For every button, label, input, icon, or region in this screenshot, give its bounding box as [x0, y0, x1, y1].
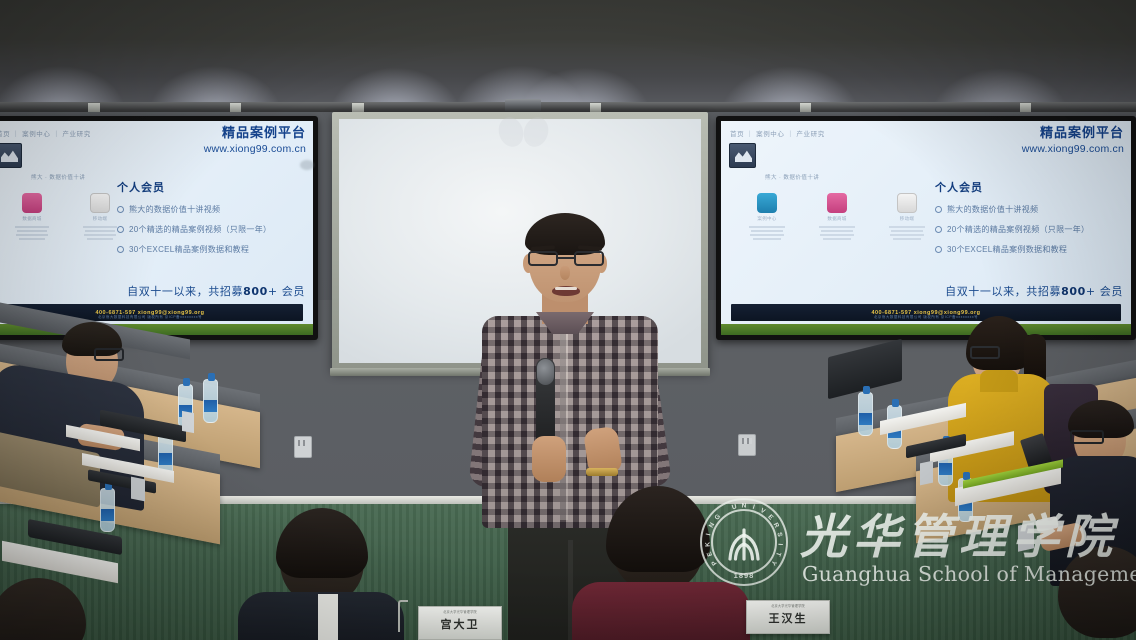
nameplate-right: 北京大学光华管理学院 王汉生	[746, 600, 830, 634]
audience-front-right-hair	[606, 486, 710, 572]
panelist-right-hair	[966, 316, 1032, 370]
slide-cta-number: 800	[243, 285, 268, 298]
slide-bullet-text: 30个EXCEL精品案例数据和教程	[947, 244, 1067, 255]
speaker-shirt-placket	[560, 330, 568, 520]
slide-bullet-text: 熊大的数据价值十讲视频	[129, 204, 220, 215]
audience-front-far-left-head	[0, 578, 86, 640]
ceiling-projector	[505, 99, 541, 113]
lecture-hall-scene: 首页 ｜ 案例中心 ｜ 产业研究 熊大 · 数据价值十讲 精品案例平台 www.…	[0, 0, 1136, 640]
bullet-circle-icon	[117, 206, 124, 213]
nameplate-name: 王汉生	[747, 610, 829, 626]
mic-base	[131, 477, 145, 502]
nameplate-org: 北京大学光华管理学院	[419, 609, 501, 614]
nameplate-name: 宫大卫	[419, 616, 501, 632]
whiteboard-smudge	[300, 160, 314, 170]
shirt-collar	[318, 594, 338, 640]
slide-app-item: 移动端	[83, 193, 117, 242]
wall-outlet-icon	[738, 434, 756, 456]
slide-cta-prefix: 自双十一以来，共招募	[127, 285, 243, 298]
display-right-screen: 首页 ｜ 案例中心 ｜ 产业研究 熊大 · 数据价值十讲 精品案例平台 www.…	[721, 121, 1131, 335]
slide-app-lines	[819, 226, 855, 240]
slide-section-title: 个人会员	[935, 179, 1121, 195]
slide-members-block: 个人会员 熊大的数据价值十讲视频 20个精选的精品案例视频（只限一年） 30个E…	[935, 179, 1121, 255]
panelist-right-collar	[980, 370, 1018, 392]
nameplate-org: 北京大学光华管理学院	[747, 603, 829, 608]
display-right: 首页 ｜ 案例中心 ｜ 产业研究 熊大 · 数据价值十讲 精品案例平台 www.…	[716, 116, 1136, 340]
slide-breadcrumb: 首页 ｜ 案例中心 ｜ 产业研究	[0, 128, 91, 138]
bullet-circle-icon	[935, 246, 942, 253]
mic-base	[1018, 522, 1034, 551]
slide-logo-icon	[729, 143, 756, 168]
bullet-circle-icon	[117, 246, 124, 253]
bullet-circle-icon	[935, 206, 942, 213]
rail-light-tick	[1020, 103, 1031, 112]
slide-app-caption: 数据商城	[819, 216, 855, 222]
wall-outlet-icon	[294, 436, 312, 458]
audience-front-right-maroon-top	[572, 582, 750, 640]
panelist-far-right-eyeglasses-icon	[1070, 430, 1104, 444]
slide-right: 首页 ｜ 案例中心 ｜ 产业研究 熊大 · 数据价值十讲 精品案例平台 www.…	[721, 121, 1131, 335]
mic-base	[182, 411, 194, 433]
speaker-hand-left	[532, 436, 566, 482]
slide-bullet: 20个精选的精品案例视频（只限一年）	[117, 224, 303, 235]
slide-bullet-text: 30个EXCEL精品案例数据和教程	[129, 244, 249, 255]
slide-app-item: 数据商城	[15, 193, 49, 242]
slide-brand-title: 精品案例平台	[204, 127, 306, 142]
speaker-mouth	[552, 286, 580, 296]
slide-app-lines	[15, 226, 49, 240]
rail-light-tick	[590, 103, 601, 112]
app-icon-blue	[757, 193, 777, 213]
audience-front-far-left	[0, 578, 110, 640]
slide-subcrumb: 熊大 · 数据价值十讲	[765, 173, 819, 181]
slide-brand-url: www.xiong99.com.cn	[204, 143, 306, 155]
slide-app-caption: 案例中心	[749, 216, 785, 222]
slide-bullet: 30个EXCEL精品案例数据和教程	[935, 244, 1121, 255]
rail-light-tick	[230, 103, 241, 112]
app-icon-white	[897, 193, 917, 213]
slide-cta: 自双十一以来，共招募800+ 会员	[127, 283, 305, 299]
slide-brand-title: 精品案例平台	[1022, 127, 1124, 142]
slide-app-item: 移动端	[889, 193, 925, 242]
app-icon-pink	[22, 193, 42, 213]
slide-app-caption: 数据商城	[15, 216, 49, 222]
slide-app-item: 案例中心	[749, 193, 785, 242]
ceiling-fan-blades-icon	[489, 116, 559, 152]
slide-cta-suffix: + 会员	[268, 285, 305, 298]
audience-front-left-hair	[276, 508, 368, 578]
slide-bullet-text: 熊大的数据价值十讲视频	[947, 204, 1038, 215]
bullet-circle-icon	[935, 226, 942, 233]
ceiling-wall	[0, 0, 1136, 112]
speaker-eyeglasses-icon	[528, 251, 604, 267]
slide-cta: 自双十一以来，共招募800+ 会员	[945, 283, 1123, 299]
slide-cta-prefix: 自双十一以来，共招募	[945, 285, 1061, 298]
app-icon-pink	[827, 193, 847, 213]
slide-brand-url: www.xiong99.com.cn	[1022, 143, 1124, 155]
audience-front-left	[256, 508, 386, 640]
app-icon-white	[90, 193, 110, 213]
slide-app-lines	[83, 226, 117, 240]
display-left-screen: 首页 ｜ 案例中心 ｜ 产业研究 熊大 · 数据价值十讲 精品案例平台 www.…	[0, 121, 313, 335]
water-bottle	[100, 488, 115, 532]
slide-members-block: 个人会员 熊大的数据价值十讲视频 20个精选的精品案例视频（只限一年） 30个E…	[117, 179, 303, 255]
panelist-right-eyeglasses-icon	[970, 346, 1000, 359]
slide-bullet-text: 20个精选的精品案例视频（只限一年）	[129, 224, 271, 235]
slide-cta-number: 800	[1061, 285, 1086, 298]
slide-bullet-text: 20个精选的精品案例视频（只限一年）	[947, 224, 1089, 235]
slide-app-row: 案例中心 数据商城 移动端	[749, 193, 925, 242]
panelist-left-eyeglasses-icon	[94, 348, 124, 361]
mic-base	[920, 461, 933, 486]
slide-bullet: 熊大的数据价值十讲视频	[935, 204, 1121, 215]
audience-front-far-right	[1052, 546, 1136, 640]
slide-bullet: 熊大的数据价值十讲视频	[117, 204, 303, 215]
speaker-wristwatch	[586, 468, 618, 476]
slide-left: 首页 ｜ 案例中心 ｜ 产业研究 熊大 · 数据价值十讲 精品案例平台 www.…	[0, 121, 313, 335]
slide-brand: 精品案例平台 www.xiong99.com.cn	[204, 127, 306, 155]
rail-light-tick	[800, 103, 811, 112]
slide-footer-sub: 北京熊大数据科技有限公司 版权所有 京ICP备xxxxxxxx号	[98, 315, 202, 320]
slide-brand: 精品案例平台 www.xiong99.com.cn	[1022, 127, 1124, 155]
slide-app-row: 数据商城 移动端	[15, 193, 117, 242]
display-left: 首页 ｜ 案例中心 ｜ 产业研究 熊大 · 数据价值十讲 精品案例平台 www.…	[0, 116, 318, 340]
slide-logo-icon	[0, 143, 22, 168]
slide-section-title: 个人会员	[117, 179, 303, 195]
slide-app-lines	[749, 226, 785, 240]
slide-app-item: 数据商城	[819, 193, 855, 242]
nameplate-stand	[398, 600, 408, 632]
slide-subcrumb: 熊大 · 数据价值十讲	[31, 173, 85, 181]
slide-bullet: 30个EXCEL精品案例数据和教程	[117, 244, 303, 255]
slide-app-caption: 移动端	[889, 216, 925, 222]
bullet-circle-icon	[117, 226, 124, 233]
speaker-nose	[560, 266, 570, 280]
water-bottle	[203, 379, 218, 423]
audience-front-far-right-head	[1058, 546, 1136, 638]
slide-app-caption: 移动端	[83, 216, 117, 222]
slide-app-lines	[889, 226, 925, 240]
slide-breadcrumb: 首页 ｜ 案例中心 ｜ 产业研究	[730, 128, 825, 138]
slide-cta-suffix: + 会员	[1086, 285, 1123, 298]
slide-bullet: 20个精选的精品案例视频（只限一年）	[935, 224, 1121, 235]
audience-front-right	[580, 490, 740, 640]
water-bottle	[858, 392, 873, 436]
nameplate-left: 北京大学光华管理学院 宫大卫	[418, 606, 502, 640]
